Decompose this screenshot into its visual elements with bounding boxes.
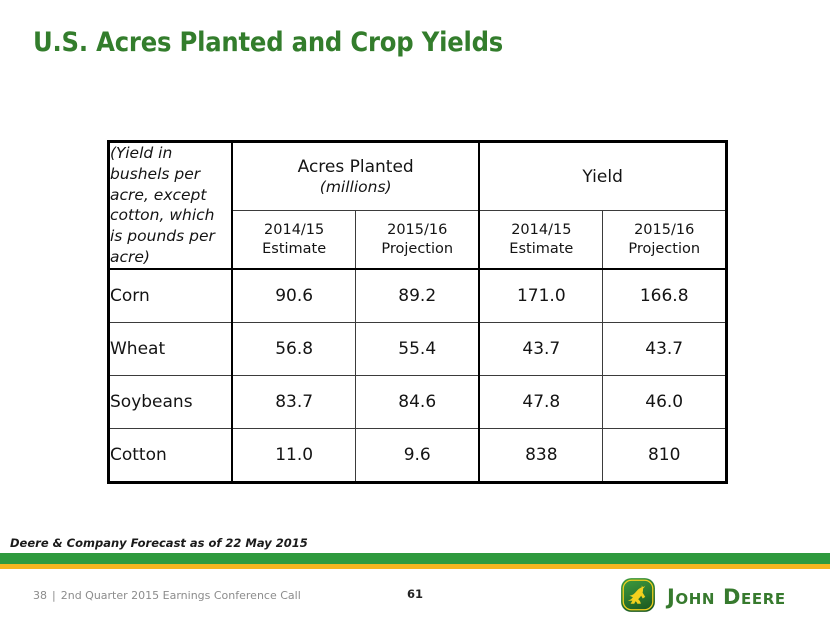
group-header-yield-label: Yield <box>582 167 622 187</box>
john-deere-wordmark: John Deere <box>667 587 786 608</box>
footer-deck-title: 2nd Quarter 2015 Earnings Conference Cal… <box>61 589 301 602</box>
footer-deck-info: 38|2nd Quarter 2015 Earnings Conference … <box>33 589 301 602</box>
group-header-acres-planted-label: Acres Planted <box>298 157 414 177</box>
footer-slide-number: 38 <box>33 589 47 602</box>
cell-cotton-yield-2014-15: 838 <box>479 428 603 482</box>
subheader-yield-2014-15: 2014/15 Estimate <box>479 211 603 269</box>
group-header-acres-planted: Acres Planted (millions) <box>232 142 479 211</box>
subheader-yield-2014-15-line1: 2014/15 <box>511 222 571 238</box>
green-divider-bar <box>0 553 830 564</box>
page-number: 61 <box>395 587 435 601</box>
cell-wheat-yield-2014-15: 43.7 <box>479 322 603 375</box>
cell-soybeans-yield-2014-15: 47.8 <box>479 375 603 428</box>
cell-wheat-acres-2015-16: 55.4 <box>356 322 480 375</box>
subheader-acres-2015-16: 2015/16 Projection <box>356 211 480 269</box>
table-note-cell: (Yield in bushels per acre, except cotto… <box>109 142 233 269</box>
cell-wheat-acres-2014-15: 56.8 <box>232 322 356 375</box>
subheader-yield-2015-16-line2: Projection <box>603 240 725 258</box>
cell-soybeans-acres-2015-16: 84.6 <box>356 375 480 428</box>
cell-corn-yield-2015-16: 166.8 <box>603 269 727 323</box>
subheader-acres-2014-15-line1: 2014/15 <box>264 222 324 238</box>
gold-divider-bar <box>0 564 830 569</box>
cell-cotton-yield-2015-16: 810 <box>603 428 727 482</box>
row-label-wheat: Wheat <box>109 322 233 375</box>
cell-soybeans-acres-2014-15: 83.7 <box>232 375 356 428</box>
cell-soybeans-yield-2015-16: 46.0 <box>603 375 727 428</box>
page-title: U.S. Acres Planted and Crop Yields <box>33 27 503 58</box>
row-label-corn: Corn <box>109 269 233 323</box>
group-header-yield: Yield <box>479 142 726 211</box>
cell-wheat-yield-2015-16: 43.7 <box>603 322 727 375</box>
row-label-cotton: Cotton <box>109 428 233 482</box>
table-row: Soybeans 83.7 84.6 47.8 46.0 <box>109 375 727 428</box>
cell-corn-acres-2014-15: 90.6 <box>232 269 356 323</box>
subheader-yield-2015-16-line1: 2015/16 <box>634 222 694 238</box>
footer-separator: | <box>47 589 61 602</box>
crop-data-table: (Yield in bushels per acre, except cotto… <box>107 140 728 484</box>
subheader-acres-2015-16-line1: 2015/16 <box>387 222 447 238</box>
cell-cotton-acres-2015-16: 9.6 <box>356 428 480 482</box>
cell-corn-yield-2014-15: 171.0 <box>479 269 603 323</box>
table-row: Corn 90.6 89.2 171.0 166.8 <box>109 269 727 323</box>
group-header-acres-planted-sub: (millions) <box>233 178 478 197</box>
slide-canvas: U.S. Acres Planted and Crop Yields (Yiel… <box>0 0 830 623</box>
source-footnote: Deere & Company Forecast as of 22 May 20… <box>10 536 308 550</box>
table-row: Wheat 56.8 55.4 43.7 43.7 <box>109 322 727 375</box>
leaping-deer-icon <box>620 577 656 617</box>
subheader-yield-2014-15-line2: Estimate <box>480 240 602 258</box>
john-deere-logo: John Deere <box>620 575 820 619</box>
cell-corn-acres-2015-16: 89.2 <box>356 269 480 323</box>
subheader-acres-2014-15-line2: Estimate <box>233 240 355 258</box>
table-row: Cotton 11.0 9.6 838 810 <box>109 428 727 482</box>
subheader-yield-2015-16: 2015/16 Projection <box>603 211 727 269</box>
row-label-soybeans: Soybeans <box>109 375 233 428</box>
cell-cotton-acres-2014-15: 11.0 <box>232 428 356 482</box>
subheader-acres-2015-16-line2: Projection <box>356 240 478 258</box>
table-header-group-row: (Yield in bushels per acre, except cotto… <box>109 142 727 211</box>
subheader-acres-2014-15: 2014/15 Estimate <box>232 211 356 269</box>
